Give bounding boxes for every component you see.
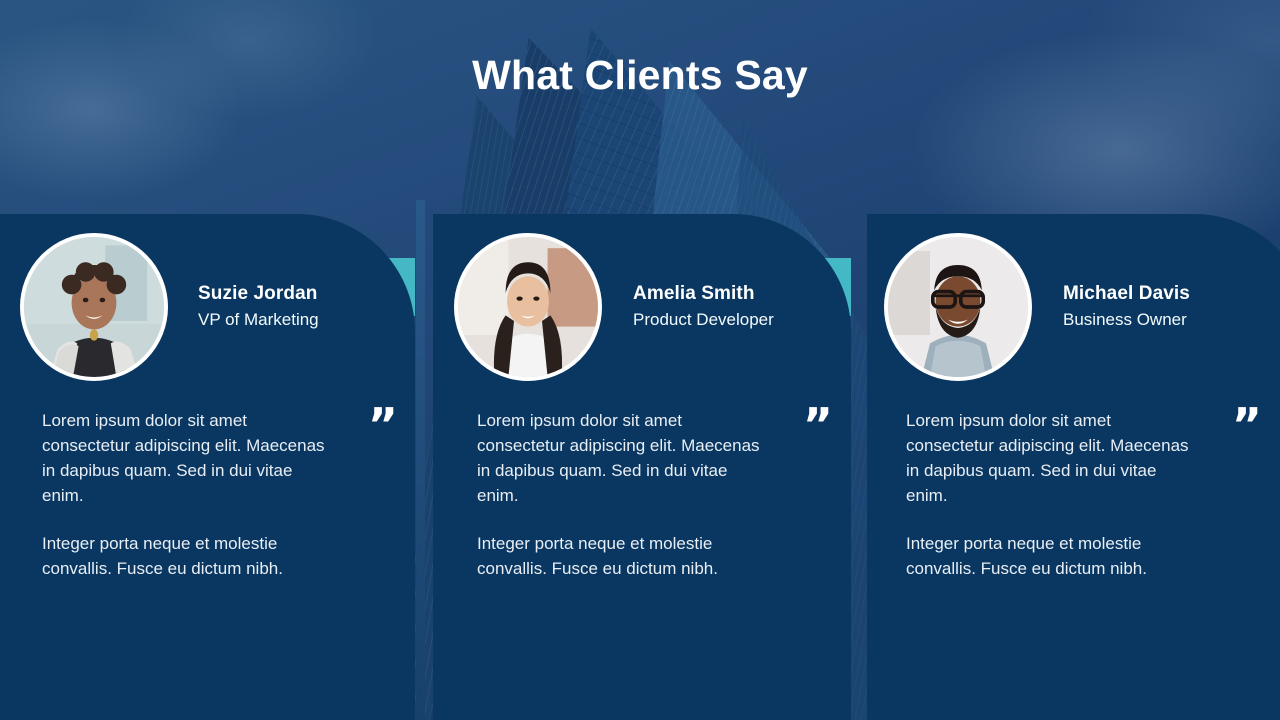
person-name: Amelia Smith [633, 281, 774, 307]
testimonial-slide: What Clients Say [0, 0, 1280, 720]
page-title: What Clients Say [0, 52, 1280, 99]
person-info: Amelia Smith Product Developer [633, 281, 774, 332]
avatar-photo-suzie-jordan [24, 237, 164, 377]
person-info: Suzie Jordan VP of Marketing [198, 281, 319, 332]
testimonial-quote: ” Lorem ipsum dolor sit amet consectetur… [42, 408, 394, 581]
quote-mark-icon: ” [368, 410, 398, 440]
avatar-photo-amelia-smith [458, 237, 598, 377]
quote-paragraph: Integer porta neque et molestie convalli… [906, 531, 1196, 581]
person-role: Business Owner [1063, 307, 1190, 332]
testimonial-cards [0, 0, 1280, 720]
quote-paragraph: Lorem ipsum dolor sit amet consectetur a… [906, 408, 1196, 508]
testimonial-quote: ” Lorem ipsum dolor sit amet consectetur… [906, 408, 1258, 581]
avatar-photo-michael-davis [888, 237, 1028, 377]
person-name: Suzie Jordan [198, 281, 319, 307]
person-info: Michael Davis Business Owner [1063, 281, 1190, 332]
person-role: Product Developer [633, 307, 774, 332]
quote-paragraph: Lorem ipsum dolor sit amet consectetur a… [477, 408, 767, 508]
quote-paragraph: Integer porta neque et molestie convalli… [477, 531, 767, 581]
testimonial-quote: ” Lorem ipsum dolor sit amet consectetur… [477, 408, 829, 581]
avatar [20, 233, 168, 381]
quote-mark-icon: ” [803, 410, 833, 440]
quote-paragraph: Integer porta neque et molestie convalli… [42, 531, 332, 581]
avatar [454, 233, 602, 381]
quote-paragraph: Lorem ipsum dolor sit amet consectetur a… [42, 408, 332, 508]
person-role: VP of Marketing [198, 307, 319, 332]
quote-mark-icon: ” [1232, 410, 1262, 440]
person-name: Michael Davis [1063, 281, 1190, 307]
avatar [884, 233, 1032, 381]
